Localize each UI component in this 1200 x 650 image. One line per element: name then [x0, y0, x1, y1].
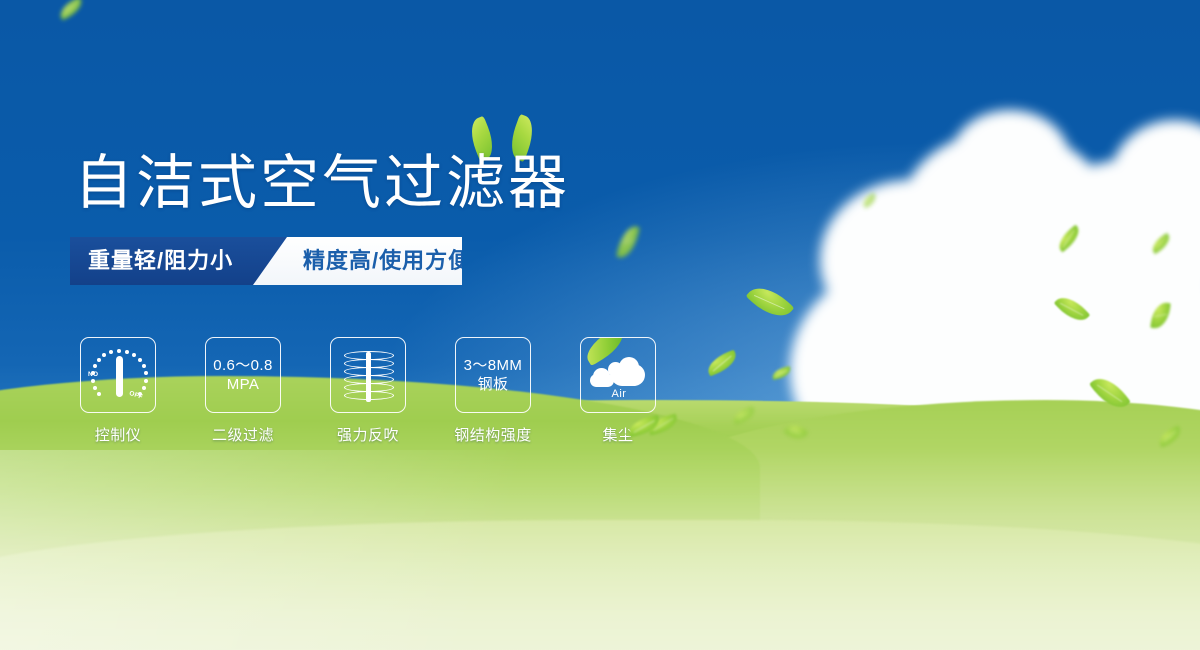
gauge-needle: [116, 356, 123, 397]
air-label: Air: [581, 388, 656, 400]
steel-material: 钢板: [478, 375, 509, 394]
gauge-label-no: NO: [88, 371, 98, 378]
gauge-dial-icon: NO OFF: [81, 338, 156, 413]
feature-icon-box: Air: [580, 337, 656, 413]
subtitle-right-text: 精度高/使用方便: [303, 237, 471, 285]
pressure-unit: MPA: [227, 375, 260, 394]
feature-caption: 二级过滤: [205, 424, 281, 445]
subtitle-left-panel: 重量轻/阻力小: [70, 237, 288, 285]
feature-item-blowback[interactable]: 强力反吹: [330, 337, 406, 445]
feature-caption: 钢结构强度: [435, 424, 551, 445]
steel-thickness: 3～8MM: [464, 356, 523, 375]
feature-icon-box: 0.6～0.8 MPA: [205, 337, 281, 413]
subtitle-bar: 重量轻/阻力小 精度高/使用方便: [70, 237, 462, 285]
feature-icon-box: 3～8MM 钢板: [455, 337, 531, 413]
feature-list: NO OFF 控制仪 0.6～0.8 MPA 二级过滤: [80, 337, 700, 447]
feature-icon-box: NO OFF: [80, 337, 156, 413]
feature-item-filter[interactable]: 0.6～0.8 MPA 二级过滤: [205, 337, 281, 445]
pressure-value: 0.6～0.8: [213, 356, 273, 375]
grass-foreground: [0, 520, 1200, 650]
air-cloud-icon: Air: [581, 338, 656, 413]
feature-item-steel[interactable]: 3～8MM 钢板 钢结构强度: [455, 337, 531, 445]
pressure-text-icon: 0.6～0.8 MPA: [206, 338, 280, 412]
subtitle-right-panel: 精度高/使用方便: [253, 237, 462, 285]
steel-text-icon: 3～8MM 钢板: [456, 338, 530, 412]
feature-caption: 控制仪: [80, 424, 156, 445]
page-title: 自洁式空气过滤器: [74, 147, 570, 219]
feature-item-control[interactable]: NO OFF 控制仪: [80, 337, 156, 445]
feature-icon-box: [330, 337, 406, 413]
coil-filter-icon: [331, 338, 406, 413]
product-banner: 自洁式空气过滤器 重量轻/阻力小 精度高/使用方便: [0, 0, 1200, 650]
subtitle-left-text: 重量轻/阻力小: [88, 237, 233, 285]
feature-caption: 强力反吹: [330, 424, 406, 445]
